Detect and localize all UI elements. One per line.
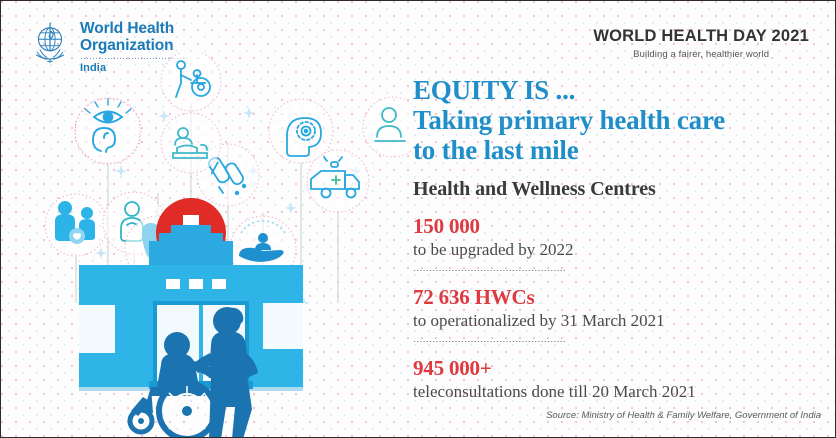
mental-health-icon	[269, 99, 333, 163]
stat-value: 72 636 HWCs	[413, 285, 823, 309]
elderly-care-icon	[363, 97, 411, 157]
headline-lead: EQUITY IS ...	[413, 75, 823, 105]
stat-value: 150 000	[413, 214, 823, 238]
patient-care-icon	[161, 113, 221, 173]
stat-divider	[413, 269, 565, 272]
family-health-icon	[45, 194, 107, 256]
content-column: EQUITY IS ... Taking primary health care…	[413, 75, 823, 421]
stat-block-teleconsultations: 945 000+ teleconsultations done till 20 …	[413, 356, 823, 402]
headline-line1: Taking primary health care	[413, 105, 823, 135]
wheelchair-assistance-icon	[161, 53, 221, 111]
illustration	[1, 53, 411, 438]
ambulance-icon	[307, 150, 369, 212]
eye-ear-icon	[75, 98, 141, 164]
stat-label: to operationalized by 31 March 2021	[413, 310, 823, 331]
campaign-tagline: Building a fairer, healthier world	[593, 49, 809, 60]
stat-divider	[413, 340, 565, 343]
stat-label: teleconsultations done till 20 March 202…	[413, 381, 823, 402]
campaign-title: WORLD HEALTH DAY 2021	[593, 27, 809, 46]
source-attribution: Source: Ministry of Health & Family Welf…	[413, 410, 823, 421]
who-name-line2: Organization	[80, 38, 188, 55]
stat-label: to be upgraded by 2022	[413, 239, 823, 260]
stat-value: 945 000+	[413, 356, 823, 380]
stat-block-operational: 72 636 HWCs to operationalized by 31 Mar…	[413, 285, 823, 331]
infographic-poster: World Health Organization India WORLD HE…	[0, 0, 836, 438]
headline-line2: to the last mile	[413, 135, 823, 165]
subheading: Health and Wellness Centres	[413, 177, 823, 201]
stat-block-upgrade: 150 000 to be upgraded by 2022	[413, 214, 823, 260]
campaign-badge: WORLD HEALTH DAY 2021 Building a fairer,…	[593, 27, 809, 60]
page-title: EQUITY IS ... Taking primary health care…	[413, 75, 823, 165]
who-name-line1: World Health	[80, 21, 188, 38]
